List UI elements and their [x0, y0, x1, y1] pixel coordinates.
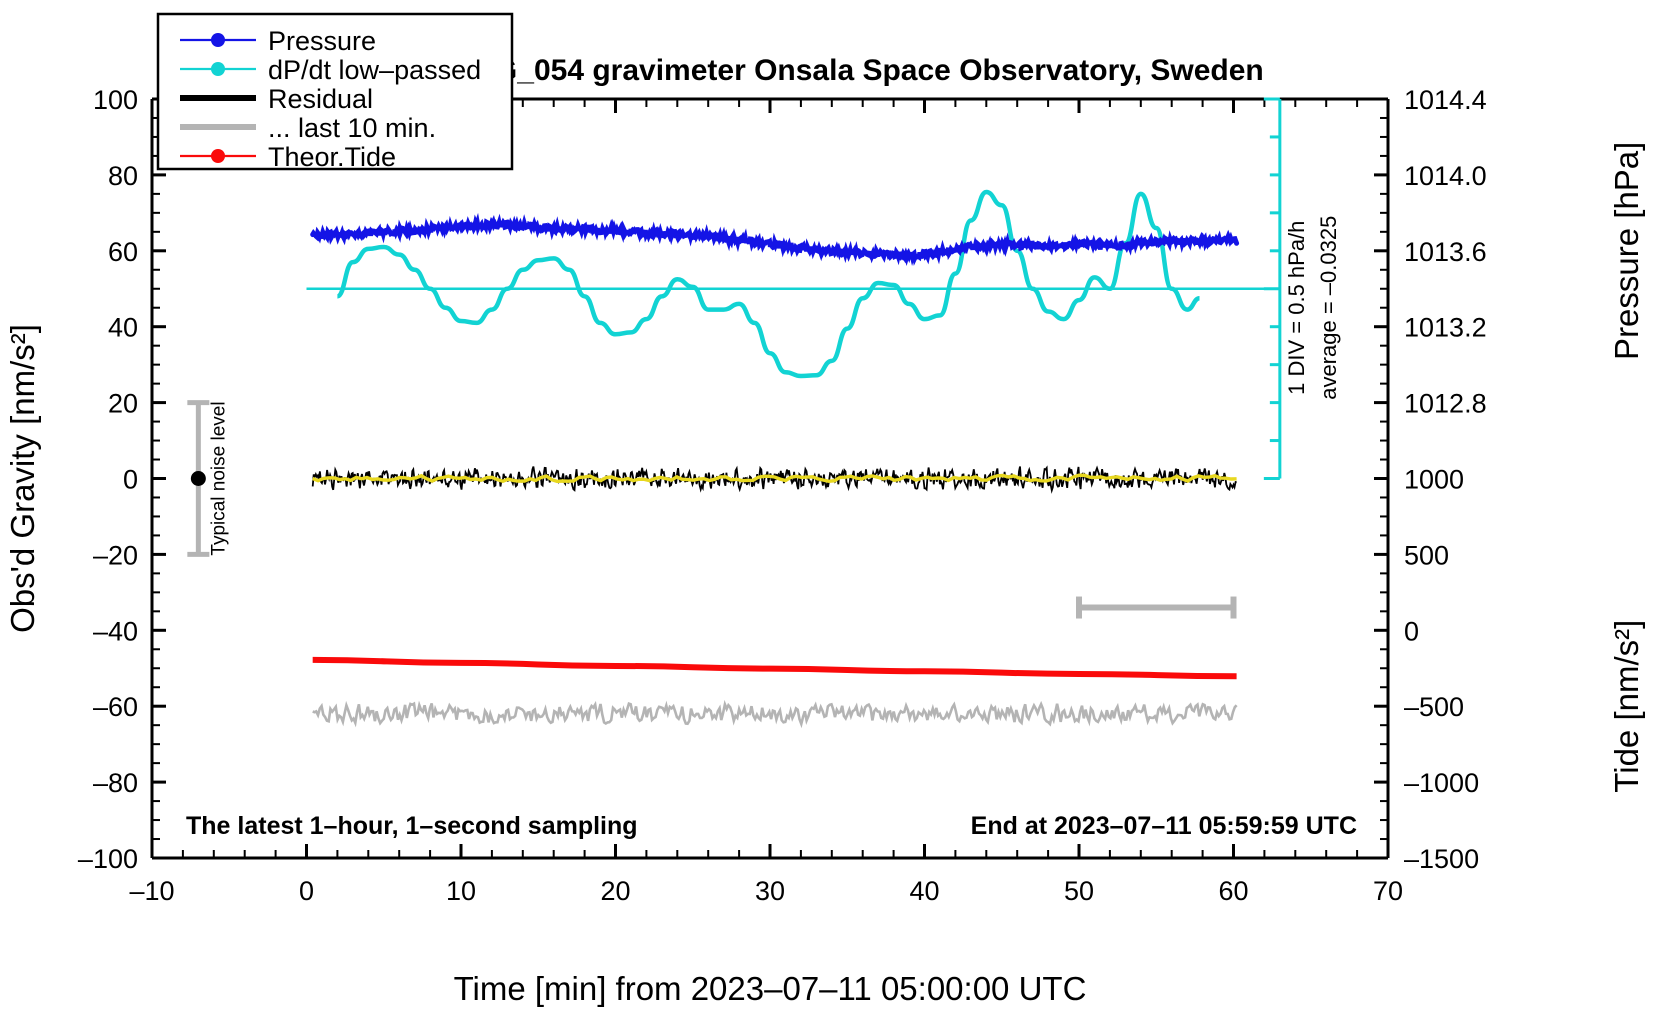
theor-tide-line — [313, 660, 1237, 676]
legend-dot-icon — [211, 149, 225, 163]
y-tick-label: –60 — [93, 692, 138, 722]
footer-sampling-note: The latest 1–hour, 1–second sampling — [186, 812, 638, 840]
y-axis-title-pressure: Pressure [hPa] — [1608, 142, 1645, 360]
noise-marker-label: Typical noise level — [208, 401, 229, 555]
dpdt-average-note: average = –0.0325 — [1316, 216, 1341, 400]
gravimeter-chart-page: –10010203040506070Time [min] from 2023–0… — [0, 0, 1660, 1020]
y-tick-label: 20 — [108, 389, 138, 419]
y-axis-right-ticks: 1012.81013.21013.61014.01014.4–1500–1000… — [1374, 85, 1487, 874]
series-residual — [313, 467, 1237, 491]
x-tick-label: 40 — [909, 876, 939, 906]
x-tick-label: 20 — [600, 876, 630, 906]
tide-tick-label: –1500 — [1404, 844, 1479, 874]
pressure-tick-label: 1013.2 — [1404, 313, 1487, 343]
pressure-tick-label: 1012.8 — [1404, 389, 1487, 419]
legend-label: dP/dt low–passed — [268, 55, 481, 85]
y-tick-label: 0 — [123, 465, 138, 495]
legend-label: ... last 10 min. — [268, 113, 436, 143]
legend-dot-icon — [211, 33, 225, 47]
x-tick-label: 10 — [446, 876, 476, 906]
y-tick-label: 40 — [108, 313, 138, 343]
pressure-trace — [313, 222, 1237, 258]
x-axis-title: Time [min] from 2023–07–11 05:00:00 UTC — [454, 970, 1087, 1007]
series-theor-tide — [313, 660, 1237, 676]
y-tick-label: 100 — [93, 85, 138, 115]
y-tick-label: 80 — [108, 161, 138, 191]
legend-label: Theor.Tide — [268, 142, 396, 172]
pressure-tick-label: 1013.6 — [1404, 237, 1487, 267]
footer-end-timestamp: End at 2023–07–11 05:59:59 UTC — [971, 812, 1357, 840]
legend-label: Residual — [268, 84, 373, 114]
y-tick-label: –100 — [78, 844, 138, 874]
y-axis-title-left: Obs'd Gravity [nm/s²] — [4, 324, 41, 633]
x-axis-ticks: –10010203040506070 — [129, 99, 1403, 906]
legend-dot-icon — [211, 62, 225, 76]
dpdt-line — [337, 192, 1199, 376]
y-tick-label: 60 — [108, 237, 138, 267]
dpdt-div-note: 1 DIV = 0.5 hPa/h — [1284, 221, 1309, 395]
y-tick-label: –80 — [93, 768, 138, 798]
dpdt-scale-axis: 1 DIV = 0.5 hPa/haverage = –0.0325 — [1264, 99, 1341, 479]
y-tick-label: –40 — [93, 616, 138, 646]
x-tick-label: 30 — [755, 876, 785, 906]
tide-tick-label: –1000 — [1404, 768, 1479, 798]
x-tick-label: 50 — [1064, 876, 1094, 906]
series-dpdt — [307, 192, 1280, 376]
x-tick-label: 0 — [299, 876, 314, 906]
legend: PressuredP/dt low–passedResidual... last… — [158, 14, 512, 172]
gravimeter-timeseries-chart: –10010203040506070Time [min] from 2023–0… — [0, 0, 1660, 1020]
tide-tick-label: 1000 — [1404, 465, 1464, 495]
legend-label: Pressure — [268, 26, 376, 56]
x-tick-label: –10 — [129, 876, 174, 906]
series-pressure — [313, 222, 1237, 258]
noise-center-dot — [191, 471, 206, 486]
y-tick-label: –20 — [93, 540, 138, 570]
x-tick-label: 70 — [1373, 876, 1403, 906]
pressure-tick-label: 1014.4 — [1404, 85, 1487, 115]
page-title: SCG_054 gravimeter Onsala Space Observat… — [452, 54, 1264, 87]
x-tick-label: 60 — [1218, 876, 1248, 906]
last10-trace — [313, 703, 1237, 724]
tide-tick-label: 500 — [1404, 540, 1449, 570]
typical-noise-level-marker: Typical noise level — [187, 401, 229, 555]
pressure-tick-label: 1014.0 — [1404, 161, 1487, 191]
tide-tick-label: 0 — [1404, 616, 1419, 646]
y-axis-title-tide: Tide [nm/s²] — [1608, 620, 1645, 793]
tide-tick-label: –500 — [1404, 692, 1464, 722]
